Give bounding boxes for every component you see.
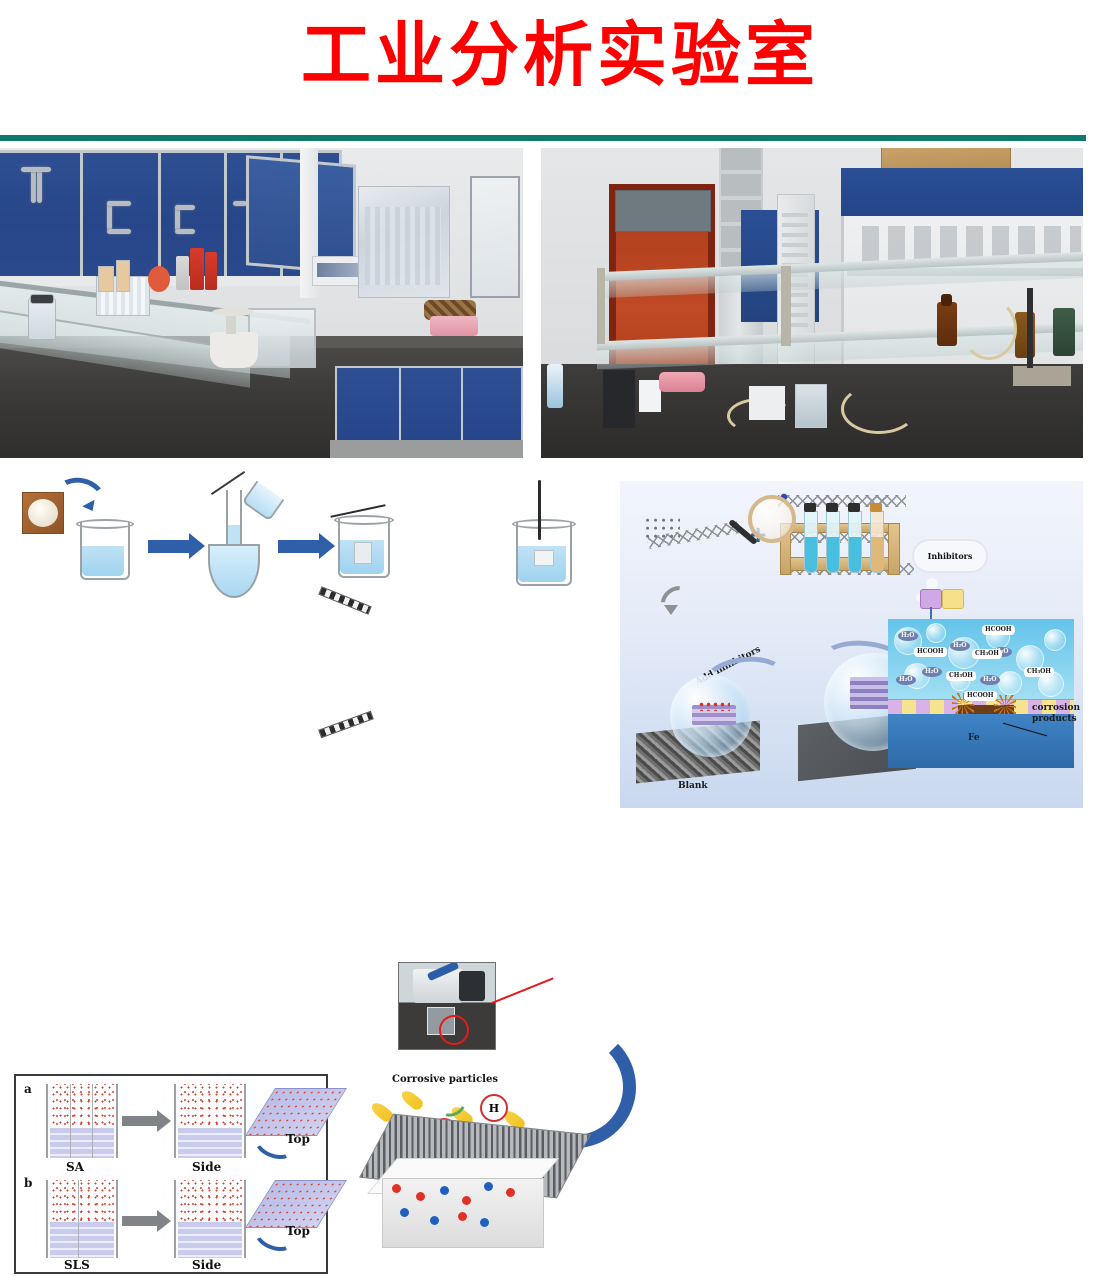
figure-inhibition-mechanism: + Add inhibitors Bl [620,481,1083,808]
particle-dot [392,1184,401,1193]
figure-experimental-workflow: a Top SA Side b [0,470,612,808]
inset-row-tag-b: b [24,1176,32,1190]
green-bottle [1053,308,1075,356]
beaker-dissolve-icon [80,522,126,578]
sim-arrow-b-icon [122,1216,158,1226]
heater-block [749,386,785,420]
photo-lab-room-cabinets [0,148,523,458]
retort-stand-rod [1027,288,1033,368]
inhibitor-vial-purple [920,589,942,609]
rubber-tubing [961,298,1017,360]
species-tag-h2o: H₂O [950,641,970,651]
particle-dot [480,1218,489,1227]
corrosion-scheme: Corrosive particles H H [330,1066,612,1278]
species-tag-hcooh: HCOOH [982,625,1015,635]
species-tag-h2o: H₂O [922,667,942,677]
rubber-bulb [148,266,170,292]
particle-dot [430,1216,439,1225]
particle-dot [484,1182,493,1191]
magnifier-icon [748,495,796,543]
sim-cell-a-side [174,1084,246,1158]
species-tag-h2o: H₂O [896,675,916,685]
small-glass-enclosure [248,308,316,368]
sim-label-system-b: SLS [64,1258,90,1272]
species-tag-hcooh-surface: HCOOH [964,691,997,701]
particle-dot [400,1208,409,1217]
substrate-label: Fe [968,733,980,743]
leader-chain-bottom [318,711,374,739]
inset-row-tag-a: a [24,1082,32,1096]
leader-chain-top [318,586,371,615]
species-tag-hcooh: HCOOH [914,647,947,657]
molecule-ring-cluster [646,517,680,543]
inhibitor-vial-yellow [942,589,964,609]
beaker-sample-icon [338,518,386,576]
h-ion-label-1: H [480,1094,508,1122]
pink-cloth [659,372,705,392]
sim-arrow-a-icon [122,1116,158,1126]
wooden-tube [98,266,114,292]
particle-dot [440,1186,449,1195]
window-reflection [358,186,450,298]
md-simulation-inset: a Top SA Side b [14,1074,328,1274]
species-tag-h2o: H₂O [980,675,1000,685]
reagent-jar [28,298,56,340]
reagent-bottle [176,256,189,290]
rotate-arrow-icon [654,580,699,625]
retort-stand-base [1013,366,1071,386]
sim-label-system-a: SA [66,1160,84,1174]
species-tag-ch3oh: CH₃OH [972,649,1002,659]
test-tube-rack-icon [780,503,898,575]
fume-hood-header [841,168,1083,216]
floor [330,440,523,458]
particle-spark-2-icon [399,1088,425,1112]
inhibitors-label: Inhibitors [928,551,973,561]
particle-dot [458,1212,467,1221]
door-glass-panel [615,190,711,232]
flow-arrow-1-icon [148,540,190,553]
corrosion-title: Corrosive particles [392,1074,498,1085]
red-labeled-bottle [190,248,204,290]
particle-dot [506,1188,515,1197]
photo-electrochemical-setup [398,962,496,1050]
instrument-motor [459,971,485,1001]
species-tag-ch3oh: CH₃OH [946,671,976,681]
page-title: 工业分析实验室 [0,16,1120,93]
rotate-arrow-head-icon [664,605,678,615]
particle-dot [462,1196,471,1205]
blank-label: Blank [678,781,708,791]
wooden-tube-2 [116,260,130,292]
base-cabinet-blue [335,366,523,444]
sim-cell-b-side [174,1180,246,1258]
probe-cable-icon [538,480,541,540]
particle-dot [416,1192,425,1201]
sim-label-side-b: Side [192,1258,221,1272]
beaker-measurement-icon [516,522,568,584]
amber-bottle [937,302,957,346]
species-tag-ch3oh: CH₃OH [1024,667,1054,677]
conical-flask [795,384,827,428]
power-strip [639,380,661,412]
inhibitors-thought-cloud: Inhibitors [912,539,988,573]
annotation-circle-icon [439,1015,469,1045]
sim-label-top-b: Top [286,1224,310,1238]
spray-bottle [547,364,563,408]
title-divider [0,135,1086,141]
sim-label-side-a: Side [192,1160,221,1174]
species-tag-h2o: H₂O [898,631,918,641]
corrosion-products-label: corrosion products [1032,703,1080,726]
rubber-tubing-2 [841,384,917,434]
jar-cap [30,294,54,304]
slide-root: 工业分析实验室 [0,0,1120,808]
blank-corrosion-dots [698,701,730,711]
analytical-balance [210,332,258,368]
red-labeled-bottle-2 [205,252,217,290]
sim-cell-b-initial [46,1180,118,1258]
annotation-leader-line [492,977,554,1004]
sim-label-top-a: Top [286,1132,310,1146]
bench-equipment [603,370,635,428]
pink-cloth [430,316,478,336]
photo-lab-bench-fume-hood [541,148,1083,458]
amber-bottle-cap [941,294,952,306]
wall-frame [470,176,520,298]
shelf-bracket-left [597,268,605,344]
flow-arrow-2-icon [278,540,320,553]
shelf-bracket-mid [781,266,791,346]
sim-cell-a-initial [46,1084,118,1158]
